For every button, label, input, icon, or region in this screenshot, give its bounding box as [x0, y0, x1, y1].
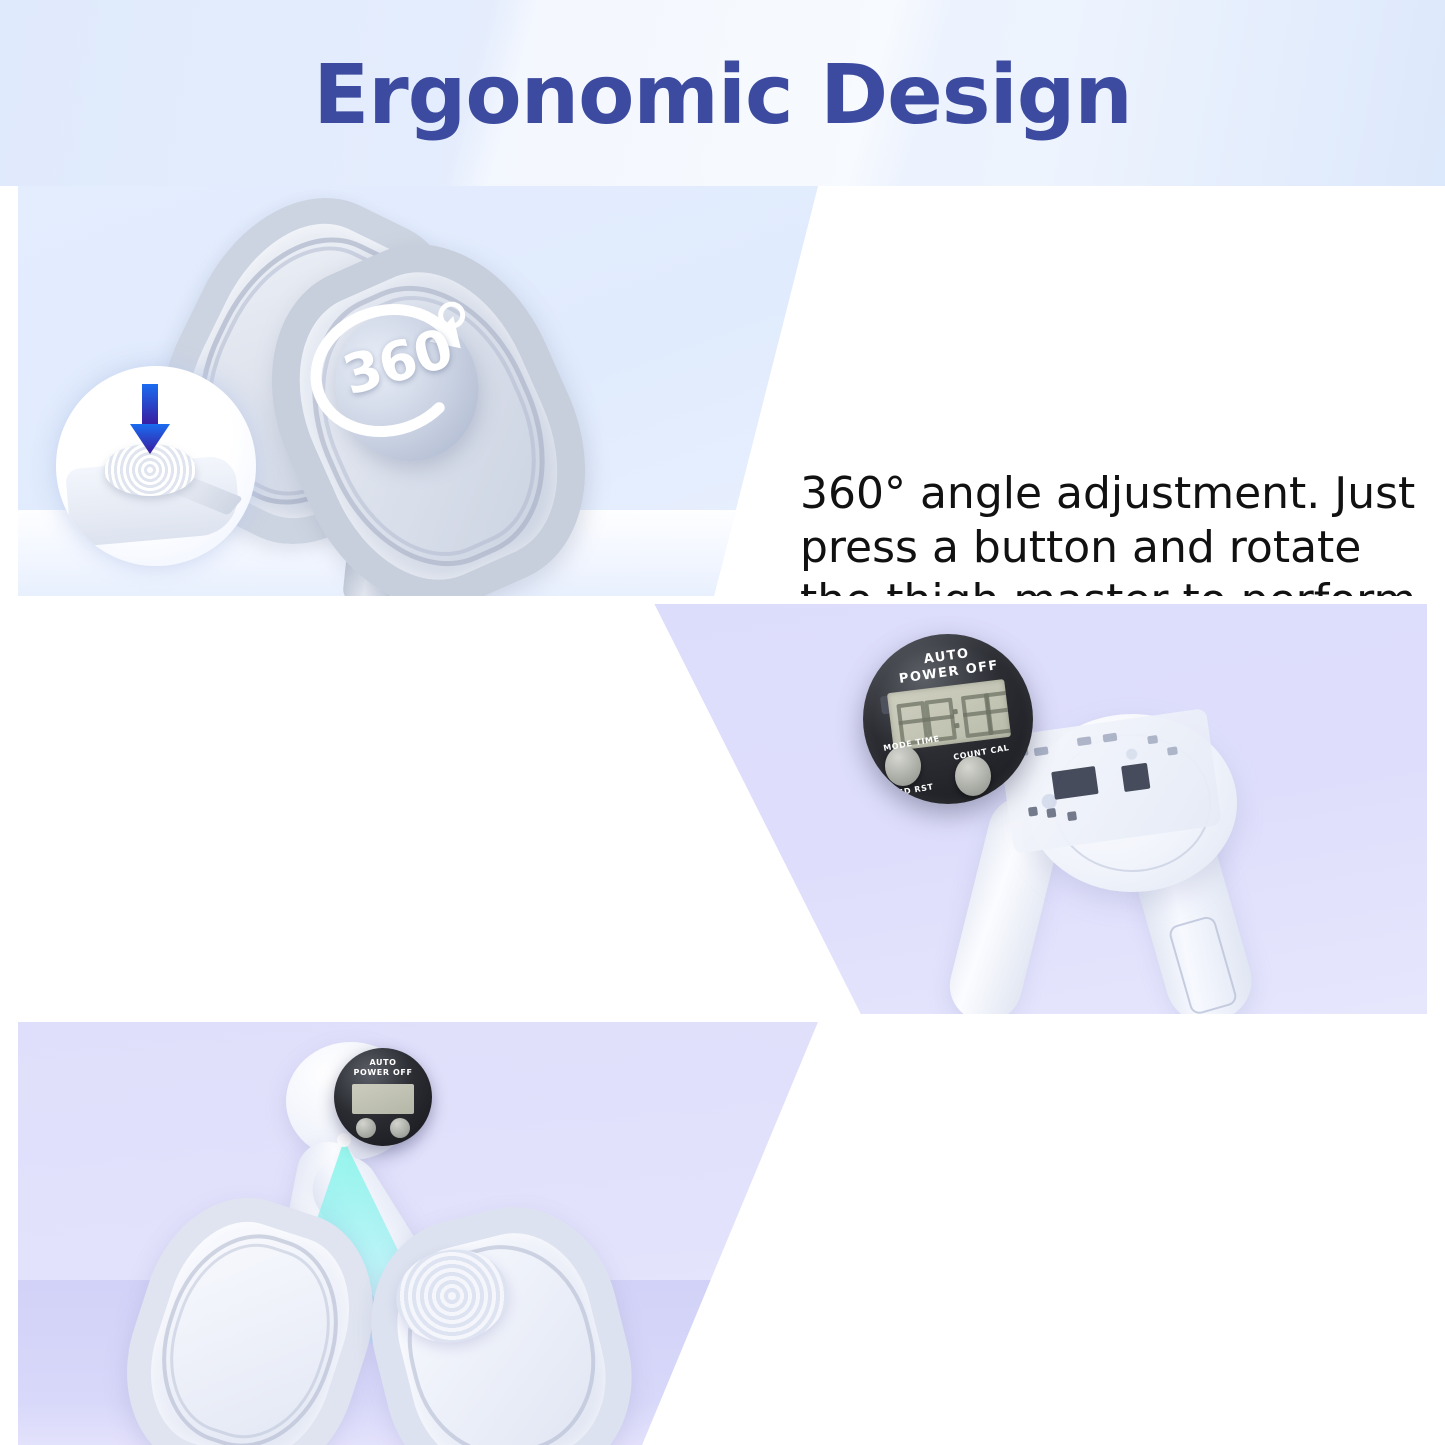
led-display-dial: AUTO POWER OFF MODE TIME — [863, 634, 1033, 804]
header-banner: Ergonomic Design — [0, 0, 1445, 186]
press-down-arrow-icon — [126, 384, 174, 456]
feature-panel-360-adjustment: 360 — [18, 186, 1427, 596]
panel-1-product-image: 360 — [18, 186, 818, 596]
msd-rst-label: MSD RST — [889, 782, 935, 799]
pcb-resistor-3 — [1077, 736, 1092, 746]
count-cal-button-small[interactable] — [390, 1118, 410, 1138]
lcd-colon-top — [952, 709, 958, 715]
thigh-master-head-assembly: AUTO POWER OFF MODE TIME — [857, 604, 1377, 1014]
lcd-colon-bottom — [954, 723, 960, 729]
mode-time-button[interactable] — [885, 746, 921, 786]
pcb-resistor-2 — [1034, 746, 1049, 756]
led-display-title-small: AUTO POWER OFF — [334, 1058, 432, 1079]
pcb-resistor-5 — [1147, 735, 1158, 744]
led-title-small-line-2: POWER OFF — [353, 1068, 412, 1077]
page-title: Ergonomic Design — [0, 48, 1445, 143]
led-display-title: AUTO POWER OFF — [863, 637, 1033, 693]
mode-time-button-small[interactable] — [356, 1118, 376, 1138]
pcb-pad-2 — [1046, 808, 1056, 818]
panel-1-description: 360° angle adjustment. Just press a butt… — [800, 467, 1425, 596]
pcb-pad-1 — [1028, 806, 1038, 816]
feature-panel-triangular-structure: AUTO POWER OFF Triangular structure enha… — [18, 1022, 1427, 1445]
pcb-resistor-4 — [1102, 733, 1117, 743]
press-button-callout-inset — [56, 366, 256, 566]
pcb-pad-3 — [1067, 811, 1077, 821]
lcd-digit-4 — [984, 690, 1011, 735]
led-display-dial-small: AUTO POWER OFF — [334, 1048, 432, 1146]
count-cal-button[interactable] — [955, 756, 991, 796]
pcb-chip-secondary — [1121, 763, 1150, 792]
infographic-page: Ergonomic Design 360 — [0, 0, 1445, 1445]
pcb-resistor-6 — [1167, 746, 1178, 755]
pcb-chip-main — [1051, 766, 1098, 800]
led-title-small-line-1: AUTO — [369, 1058, 396, 1067]
thigh-master-device-rotated: 360 — [168, 190, 618, 590]
lcd-screen-small — [352, 1084, 414, 1114]
thigh-master-triangular-pose: AUTO POWER OFF — [128, 1032, 688, 1445]
feature-panel-led-display: AUTO POWER OFF MODE TIME — [18, 604, 1427, 1014]
